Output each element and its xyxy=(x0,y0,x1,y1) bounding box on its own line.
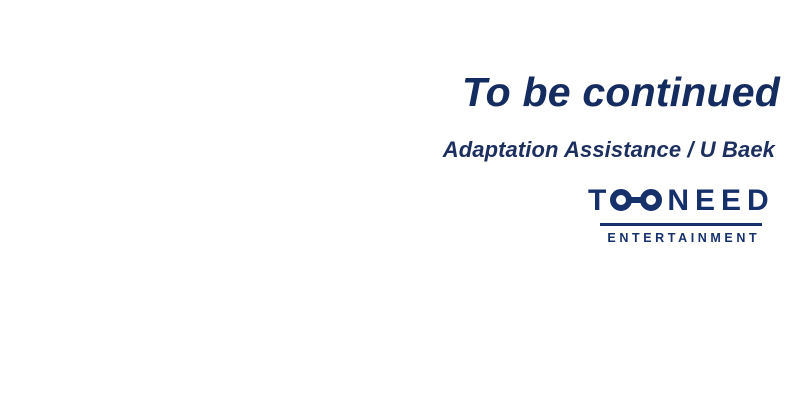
logo-wordmark: T N E E D xyxy=(588,185,774,217)
end-card-title: To be continued xyxy=(0,68,780,116)
end-card-credit: Adaptation Assistance / U Baek xyxy=(0,136,775,164)
logo-letter-t: T xyxy=(588,186,606,216)
end-card-canvas: To be continued Adaptation Assistance / … xyxy=(0,0,800,417)
logo-letter-n: N xyxy=(667,186,689,216)
logo-letter-d: D xyxy=(747,186,769,216)
logo-letter-e-first: E xyxy=(695,186,715,216)
tooneed-logo: T N E E D ENTERTAINMENT xyxy=(588,185,774,245)
linked-double-o-ring-right xyxy=(640,189,662,211)
linked-double-o-icon xyxy=(610,189,662,213)
logo-divider xyxy=(600,223,762,226)
logo-tagline: ENTERTAINMENT xyxy=(601,231,763,245)
logo-letter-e-second: E xyxy=(721,186,741,216)
linked-double-o-ring-left xyxy=(610,189,632,211)
